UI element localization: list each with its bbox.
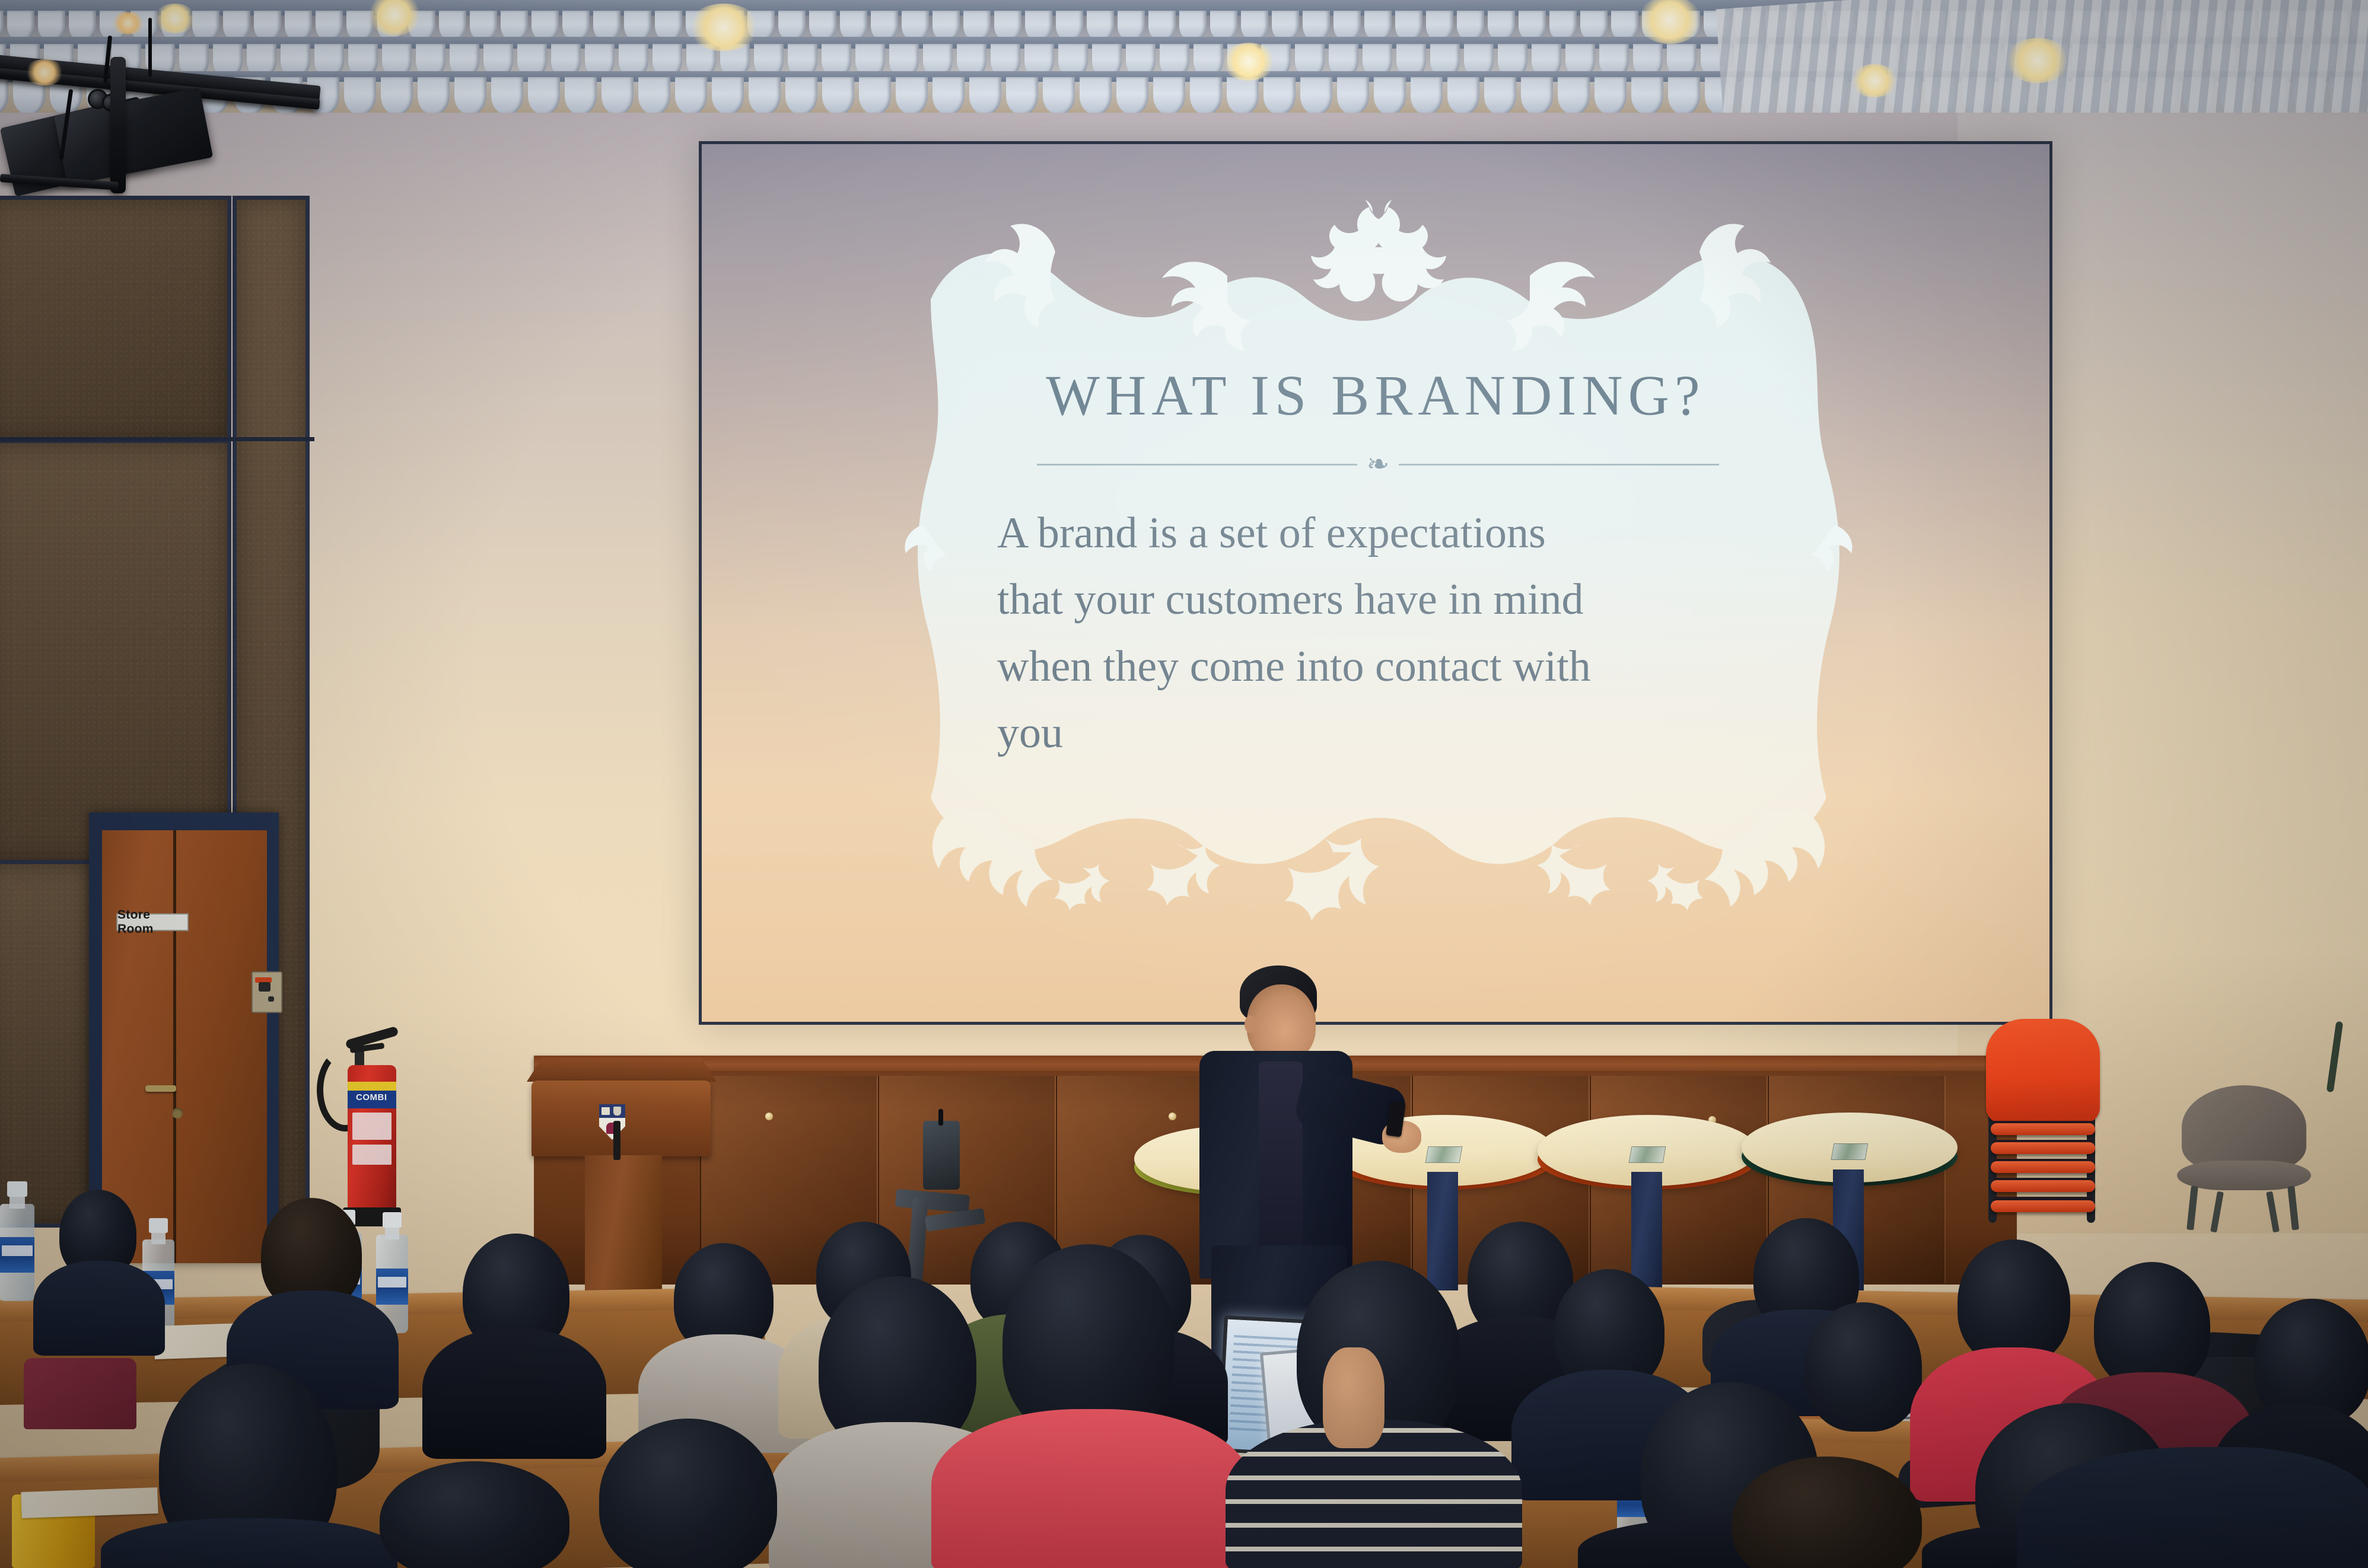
audience-head	[2094, 1262, 2210, 1390]
spare-chair	[2182, 1085, 2306, 1222]
door-handle[interactable]	[145, 1085, 176, 1092]
stacked-chairs	[1986, 1019, 2100, 1226]
ceiling-baffle	[0, 77, 8, 113]
presenter-head	[1247, 984, 1316, 1062]
ceiling-baffle	[528, 77, 560, 113]
ceiling-baffle	[822, 77, 854, 113]
ceiling-baffle	[785, 77, 817, 113]
audience-chair-back	[24, 1358, 136, 1429]
audience-body-front	[931, 1409, 1252, 1568]
ceiling-baffle	[1263, 77, 1296, 113]
ceiling-baffle	[1484, 77, 1516, 113]
ceiling-baffle	[859, 77, 891, 113]
slide-title: WHAT IS BRANDING?	[702, 362, 2049, 428]
ceiling-baffle	[675, 77, 707, 113]
table-card-2	[1425, 1146, 1463, 1163]
table-card-4	[1831, 1143, 1869, 1160]
ceiling-baffle	[749, 77, 781, 113]
water-bottle-1[interactable]	[0, 1183, 34, 1301]
audience-head	[1958, 1239, 2070, 1365]
ceiling-baffle	[454, 77, 486, 113]
slide-body-line-3: when they come into contact with	[997, 633, 1828, 700]
wall-panel-left-edge	[0, 860, 95, 1228]
wall-panel-upper-left	[0, 196, 231, 445]
ceiling-baffle	[1116, 77, 1148, 113]
audience-body	[422, 1328, 606, 1459]
ceiling-baffle	[418, 77, 450, 113]
presenter-shirt	[1259, 1062, 1303, 1263]
ceiling-baffle	[1006, 77, 1038, 113]
ceiling-baffle	[969, 77, 1001, 113]
ceiling-baffle	[932, 77, 965, 113]
ceiling-baffle	[1043, 77, 1075, 113]
projection-screen: WHAT IS BRANDING? ❧ A brand is a set of …	[699, 141, 2052, 1025]
ceiling-baffle	[1300, 77, 1332, 113]
ceiling-baffle	[1668, 77, 1700, 113]
store-room-door[interactable]	[102, 830, 267, 1263]
audience-head-front	[599, 1419, 777, 1568]
slide-body-text: A brand is a set of expectations that yo…	[997, 500, 1828, 767]
wall-panel-lower-left	[0, 439, 231, 866]
ceiling-baffle	[381, 77, 413, 113]
ceiling-baffle	[1190, 77, 1222, 113]
ceiling-baffle	[565, 77, 597, 113]
ceiling-baffle	[491, 77, 523, 113]
ceiling-baffle	[712, 77, 744, 113]
ceiling-baffle	[1411, 77, 1443, 113]
slide-body-line-1: A brand is a set of expectations	[997, 500, 1828, 566]
ceiling-baffle	[1594, 77, 1627, 113]
fire-extinguisher-label: COMBI	[356, 1092, 387, 1102]
ceiling-baffle	[1227, 77, 1259, 113]
audience-head	[1804, 1302, 1922, 1432]
ceiling-baffle	[638, 77, 670, 113]
ceiling-baffle	[1558, 77, 1590, 113]
acoustic-baffle-ceiling	[0, 0, 2368, 113]
audience-body	[33, 1261, 165, 1356]
ceiling-baffle	[1521, 77, 1553, 113]
ceiling-baffle	[1080, 77, 1112, 113]
slide-body-line-4: you	[997, 700, 1828, 766]
ceiling-baffle	[1447, 77, 1479, 113]
ceiling-baffle	[344, 77, 376, 113]
door-sign-store-room: Store Room	[116, 913, 189, 931]
notebook-paper-2	[21, 1487, 158, 1518]
door-lock	[172, 1108, 183, 1118]
table-card-3	[1629, 1146, 1666, 1163]
slide-body-line-2: that your customers have in mind	[997, 566, 1828, 633]
ceiling-baffle	[1374, 77, 1406, 113]
ceiling-baffle	[1631, 77, 1663, 113]
audience-hand-raised	[1323, 1347, 1384, 1448]
ceiling-baffle	[1153, 77, 1185, 113]
ceiling-baffle	[896, 77, 928, 113]
ceiling-baffle	[601, 77, 634, 113]
slide-divider: ❧	[963, 447, 1793, 482]
ceiling-baffle	[1337, 77, 1369, 113]
lecture-hall-scene: Store Room COMBI	[0, 0, 2368, 1568]
